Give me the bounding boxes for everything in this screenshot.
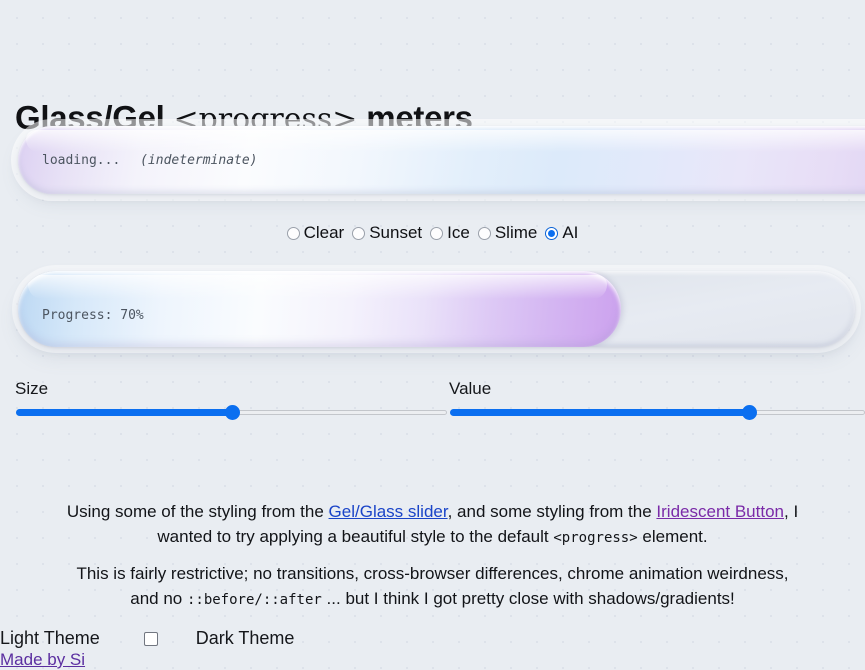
- credit-link[interactable]: Made by Si: [0, 650, 85, 669]
- radio-option-ice[interactable]: Ice: [430, 223, 470, 243]
- link-iridescent-button[interactable]: Iridescent Button: [656, 502, 784, 521]
- slider-label-size: Size: [15, 379, 48, 399]
- link-gel-glass-slider[interactable]: Gel/Glass slider: [329, 502, 448, 521]
- description-paragraph-2: This is fairly restrictive; no transitio…: [64, 561, 801, 613]
- radio-label-ai: AI: [562, 223, 578, 243]
- slider-value[interactable]: [450, 404, 865, 422]
- paragraph-2-code: ::before/::after: [187, 592, 322, 608]
- progress-label-indeterminate-note: (indeterminate): [140, 153, 257, 168]
- radio-option-clear[interactable]: Clear: [287, 223, 345, 243]
- radio-icon-sunset[interactable]: [352, 227, 365, 240]
- radio-label-sunset: Sunset: [369, 223, 422, 243]
- theme-radio-group[interactable]: Clear Sunset Ice Slime AI: [0, 223, 865, 243]
- radio-icon-ice[interactable]: [430, 227, 443, 240]
- theme-label-dark: Dark Theme: [196, 628, 295, 649]
- theme-toggle-row[interactable]: Light Theme Dark Theme: [0, 628, 294, 649]
- radio-option-sunset[interactable]: Sunset: [352, 223, 422, 243]
- radio-icon-clear[interactable]: [287, 227, 300, 240]
- theme-toggle-checkbox[interactable]: [144, 632, 158, 646]
- slider-size-thumb[interactable]: [225, 405, 240, 420]
- paragraph-1-text-2: , and some styling from the: [448, 502, 657, 521]
- slider-size-fill: [16, 409, 232, 416]
- radio-label-clear: Clear: [304, 223, 345, 243]
- description-paragraph-1: Using some of the styling from the Gel/G…: [64, 499, 801, 551]
- slider-label-value: Value: [449, 379, 491, 399]
- slider-value-thumb[interactable]: [742, 405, 757, 420]
- slider-size[interactable]: [16, 404, 447, 422]
- progress-label-indeterminate-main: loading...: [42, 153, 120, 168]
- progress-label-determinate: Progress: 70%: [42, 308, 144, 323]
- paragraph-1-code: <progress>: [553, 530, 637, 546]
- radio-option-slime[interactable]: Slime: [478, 223, 538, 243]
- radio-label-ice: Ice: [447, 223, 470, 243]
- theme-label-light: Light Theme: [0, 628, 100, 649]
- paragraph-1-text-4: element.: [638, 527, 708, 546]
- slider-value-fill: [450, 409, 749, 416]
- radio-label-slime: Slime: [495, 223, 538, 243]
- paragraph-2-text-2: ... but I think I got pretty close with …: [322, 589, 735, 608]
- page-root: Glass/Gel <progress> meters loading... (…: [0, 0, 865, 657]
- radio-icon-ai[interactable]: [545, 227, 558, 240]
- progress-label-indeterminate: loading... (indeterminate): [42, 153, 258, 168]
- credit-line[interactable]: Made by Si: [0, 650, 85, 670]
- radio-option-ai[interactable]: AI: [545, 223, 578, 243]
- radio-icon-slime[interactable]: [478, 227, 491, 240]
- paragraph-1-text-1: Using some of the styling from the: [67, 502, 329, 521]
